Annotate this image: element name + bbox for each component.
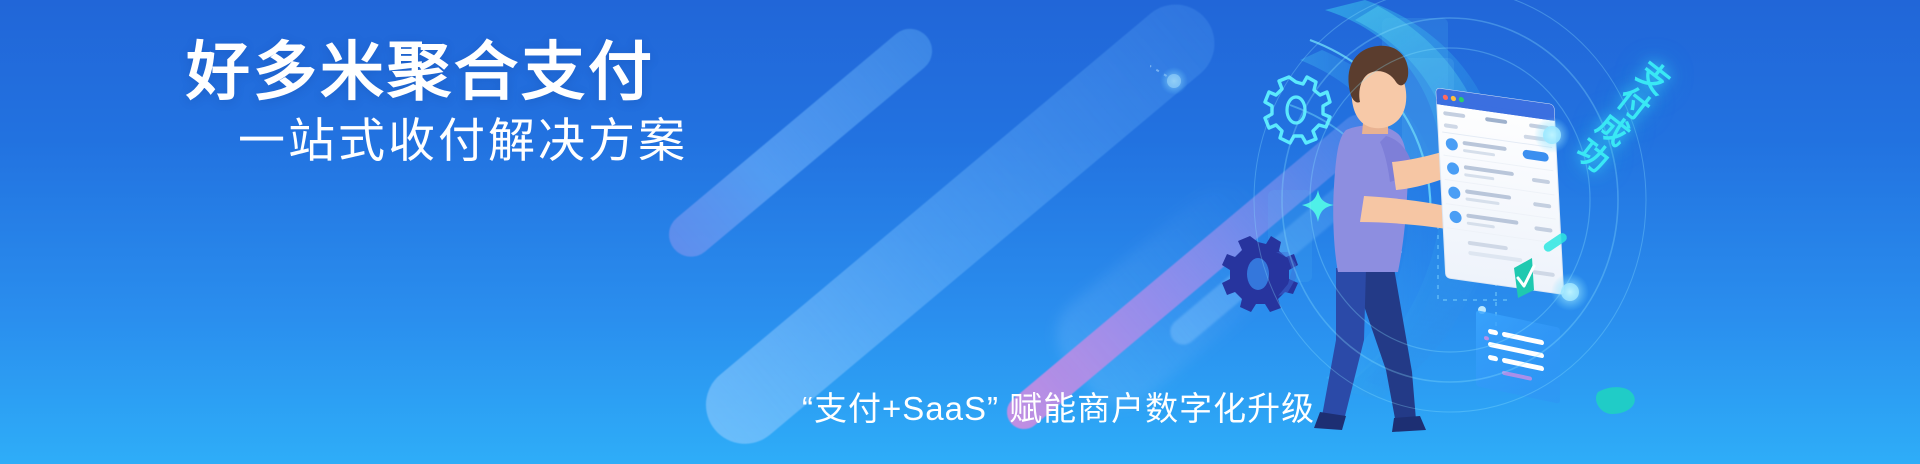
hero-banner: 好多米聚合支付 一站式收付解决方案 “支付+SaaS” 赋能商户数字化升级 xyxy=(0,0,1920,464)
banner-title: 好多米聚合支付 xyxy=(186,34,688,110)
banner-subtitle: 一站式收付解决方案 xyxy=(186,112,688,170)
light-streak-upper xyxy=(660,20,941,266)
node-connector-left xyxy=(1150,42,1188,95)
headline-block: 好多米聚合支付 一站式收付解决方案 xyxy=(186,34,688,170)
glow-node-upper xyxy=(1534,117,1570,153)
document-lines-card-icon xyxy=(1476,310,1560,404)
gear-cyan-icon xyxy=(1265,77,1330,143)
teal-blob-icon xyxy=(1596,387,1635,414)
